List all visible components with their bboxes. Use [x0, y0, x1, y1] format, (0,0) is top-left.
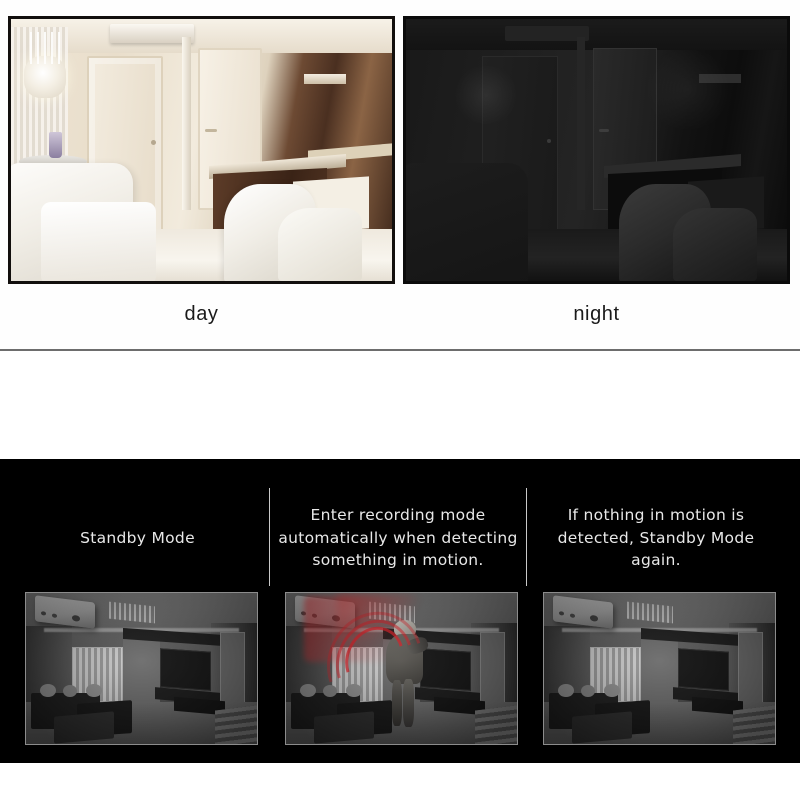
door-knob-icon: [151, 140, 156, 145]
motion-step-recording-label: Enter recording mode automatically when …: [278, 484, 518, 592]
night-air-conditioner: [505, 26, 589, 42]
room-vignette: [286, 593, 517, 744]
motion-step-standby-label: Standby Mode: [10, 484, 265, 592]
motion-step-recording-image: [285, 592, 518, 745]
day-camera-view: [8, 16, 395, 284]
night-ir-glow-right: [642, 50, 733, 129]
day-caption: day: [8, 303, 395, 326]
day-sofa-seat: [41, 202, 155, 281]
day-chandelier-strands: [30, 32, 64, 63]
room-vignette: [26, 593, 257, 744]
column-divider-1: [269, 488, 270, 586]
day-air-conditioner: [110, 24, 194, 42]
heading-band: Motion detection: [0, 351, 800, 459]
night-caption: night: [403, 303, 790, 326]
day-night-comparison-section: day night: [0, 0, 800, 349]
door-handle-icon: [599, 129, 609, 132]
night-scene: [406, 19, 787, 281]
day-mirror-post: [182, 37, 190, 210]
product-feature-page: day night Motion detection Standby Mode …: [0, 0, 800, 800]
motion-steps-text-row: Standby Mode Enter recording mode automa…: [0, 484, 800, 592]
footer-spacer: [0, 763, 800, 800]
day-scene: [11, 19, 392, 281]
door-handle-icon: [205, 129, 217, 132]
column-divider-2: [526, 488, 527, 586]
day-vase: [49, 132, 62, 158]
day-shelf: [304, 74, 346, 84]
day-chair-second: [278, 208, 362, 281]
motion-step-standby-image: [25, 592, 258, 745]
motion-step-standby-again-image: [543, 592, 776, 745]
night-chair-second: [673, 208, 757, 281]
night-ceiling: [406, 19, 787, 50]
door-knob-icon: [547, 139, 551, 143]
room-vignette: [544, 593, 775, 744]
night-ir-glow-left: [452, 66, 521, 124]
night-mirror-post: [577, 37, 585, 210]
motion-detection-section: Standby Mode Enter recording mode automa…: [0, 459, 800, 763]
night-sofa: [406, 163, 528, 281]
night-camera-view: [403, 16, 790, 284]
motion-step-standby-again-label: If nothing in motion is detected, Standb…: [536, 484, 776, 592]
